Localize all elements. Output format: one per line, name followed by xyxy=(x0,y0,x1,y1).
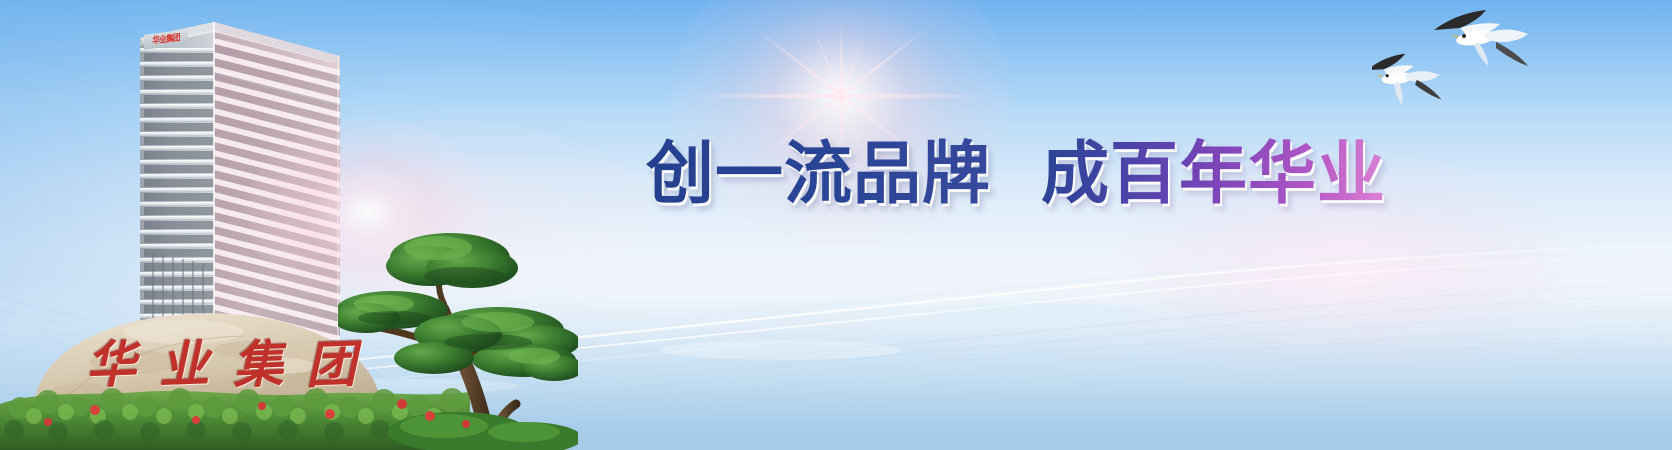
slogan-text: 创一流品牌 成百年华业 xyxy=(646,134,1386,214)
seagull-icon-2 xyxy=(1372,54,1441,105)
seagulls xyxy=(1372,8,1572,118)
building-sign-text: 华业集团 xyxy=(152,33,179,45)
slogan-line-1: 创一流品牌 xyxy=(646,135,991,213)
office-tower: 华业集团 xyxy=(128,8,358,348)
bonsai-pine-tree xyxy=(338,218,578,450)
hero-banner: 华业集团 xyxy=(0,0,1672,450)
seagull-icon-1 xyxy=(1434,10,1528,66)
slogan-line-2: 成百年华业 xyxy=(1041,135,1386,213)
